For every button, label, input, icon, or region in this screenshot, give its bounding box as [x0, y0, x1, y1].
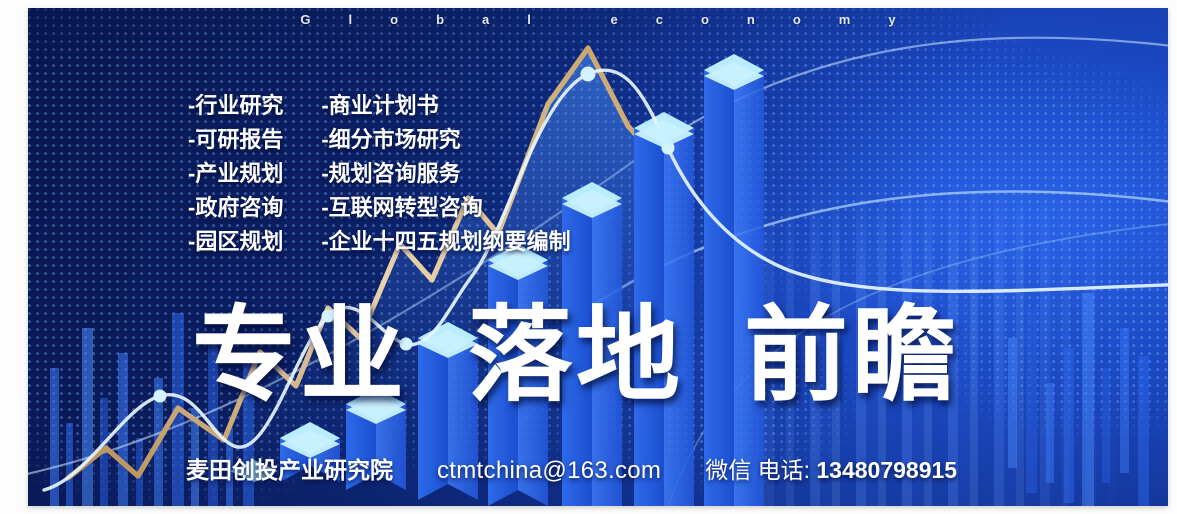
bar-7 [704, 54, 764, 506]
services-column-right: -商业计划书 -细分市场研究 -规划咨询服务 -互联网转型咨询 -企业十四五规划… [321, 90, 570, 257]
service-item: -可研报告 [188, 124, 283, 155]
curve-node [154, 390, 167, 403]
phone-number: 13480798915 [816, 457, 957, 483]
promo-banner: Global economy -行业研究 -可研报告 -产业规划 -政府咨询 -… [28, 8, 1168, 506]
contact-label: 微信 电话: [705, 457, 810, 483]
kicker-text: Global economy [28, 12, 1168, 36]
email-address: ctmtchina@163.com [437, 457, 661, 485]
service-item: -行业研究 [188, 90, 283, 121]
headline-word: 专业 [192, 304, 408, 408]
service-item: -细分市场研究 [321, 124, 570, 155]
org-name: 麦田创投产业研究院 [186, 451, 393, 485]
services-column-left: -行业研究 -可研报告 -产业规划 -政府咨询 -园区规划 [188, 90, 283, 257]
headline-word: 落地 [468, 304, 684, 408]
service-item: -产业规划 [188, 158, 283, 189]
service-item: -规划咨询服务 [321, 158, 570, 189]
headline: 专业 落地 前瞻 [192, 304, 960, 408]
service-item: -商业计划书 [321, 90, 570, 121]
curve-node [581, 67, 596, 82]
phone-contact: 微信 电话: 13480798915 [705, 451, 957, 485]
chart-artwork [28, 8, 1168, 506]
banner-page: Global economy -行业研究 -可研报告 -产业规划 -政府咨询 -… [0, 0, 1177, 514]
footer-contact: 麦田创投产业研究院 ctmtchina@163.com 微信 电话: 13480… [186, 451, 957, 485]
services-list: -行业研究 -可研报告 -产业规划 -政府咨询 -园区规划 -商业计划书 -细分… [188, 90, 571, 257]
service-item: -园区规划 [188, 226, 283, 257]
service-item: -互联网转型咨询 [321, 192, 570, 223]
headline-word: 前瞻 [744, 304, 960, 408]
service-item: -政府咨询 [188, 192, 283, 223]
service-item: -企业十四五规划纲要编制 [321, 226, 570, 257]
